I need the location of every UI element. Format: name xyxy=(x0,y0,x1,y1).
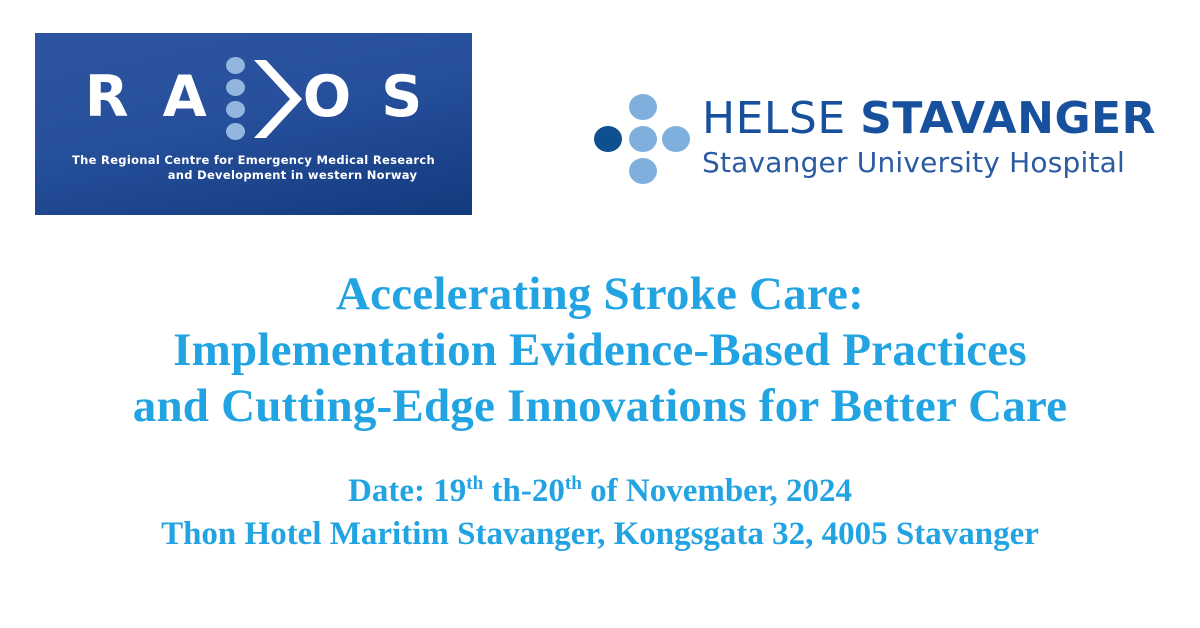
event-date-ordinal-2: th xyxy=(565,473,582,494)
helse-title-bold: STAVANGER xyxy=(860,93,1156,144)
rakos-dot-2 xyxy=(226,79,245,96)
rakos-tagline-line1: The Regional Centre for Emergency Medica… xyxy=(72,153,435,167)
helse-title-light: HELSE xyxy=(702,93,846,144)
event-date-ordinal-1: th xyxy=(466,473,483,494)
rakos-dot-column-icon xyxy=(226,57,248,141)
helse-wordmark: HELSE STAVANGER Stavanger University Hos… xyxy=(702,93,1172,181)
rakos-dot-1 xyxy=(226,57,245,74)
event-date-prefix: Date: 19 xyxy=(348,473,466,509)
rakos-letter-a: A xyxy=(163,55,207,140)
rakos-tagline-line2: and Development in western Norway xyxy=(57,168,450,183)
rakos-letter-r: R xyxy=(85,55,129,140)
helse-subtitle: Stavanger University Hospital xyxy=(702,145,1172,181)
helse-dot-left-dark xyxy=(594,126,622,152)
logo-header-band: RAOS The Regional Centre for Emergency xyxy=(0,0,1200,240)
conference-title: Accelerating Stroke Care: Implementation… xyxy=(0,266,1200,434)
rakos-dot-3 xyxy=(226,101,245,118)
event-details: Date: 19th th-20th of November, 2024 Tho… xyxy=(0,470,1200,556)
rakos-dot-4 xyxy=(226,123,245,140)
helse-dot-top xyxy=(629,94,657,120)
rakos-stylised-k-icon xyxy=(220,57,316,141)
helse-stavanger-logo: HELSE STAVANGER Stavanger University Hos… xyxy=(592,93,1172,193)
event-venue: Thon Hotel Maritim Stavanger, Kongsgata … xyxy=(0,513,1200,556)
conference-title-line3: and Cutting-Edge Innovations for Better … xyxy=(0,378,1200,434)
rakos-tagline: The Regional Centre for Emergency Medica… xyxy=(57,153,450,183)
conference-title-line2: Implementation Evidence-Based Practices xyxy=(0,322,1200,378)
conference-title-line1: Accelerating Stroke Care: xyxy=(0,266,1200,322)
helse-dot-bottom xyxy=(629,158,657,184)
event-date-suffix: of November, 2024 xyxy=(582,473,852,509)
rakos-chevron-icon xyxy=(252,60,304,138)
helse-dot-center xyxy=(629,126,657,152)
helse-dot-cluster-icon xyxy=(592,93,688,188)
event-date: Date: 19th th-20th of November, 2024 xyxy=(0,470,1200,513)
rakos-letter-s: S xyxy=(381,55,422,140)
helse-dot-right xyxy=(662,126,690,152)
rakos-logo: RAOS The Regional Centre for Emergency xyxy=(35,33,472,215)
rakos-wordmark: RAOS xyxy=(35,55,472,140)
event-date-middle: th-20 xyxy=(483,473,565,509)
helse-title-line: HELSE STAVANGER xyxy=(702,93,1172,145)
